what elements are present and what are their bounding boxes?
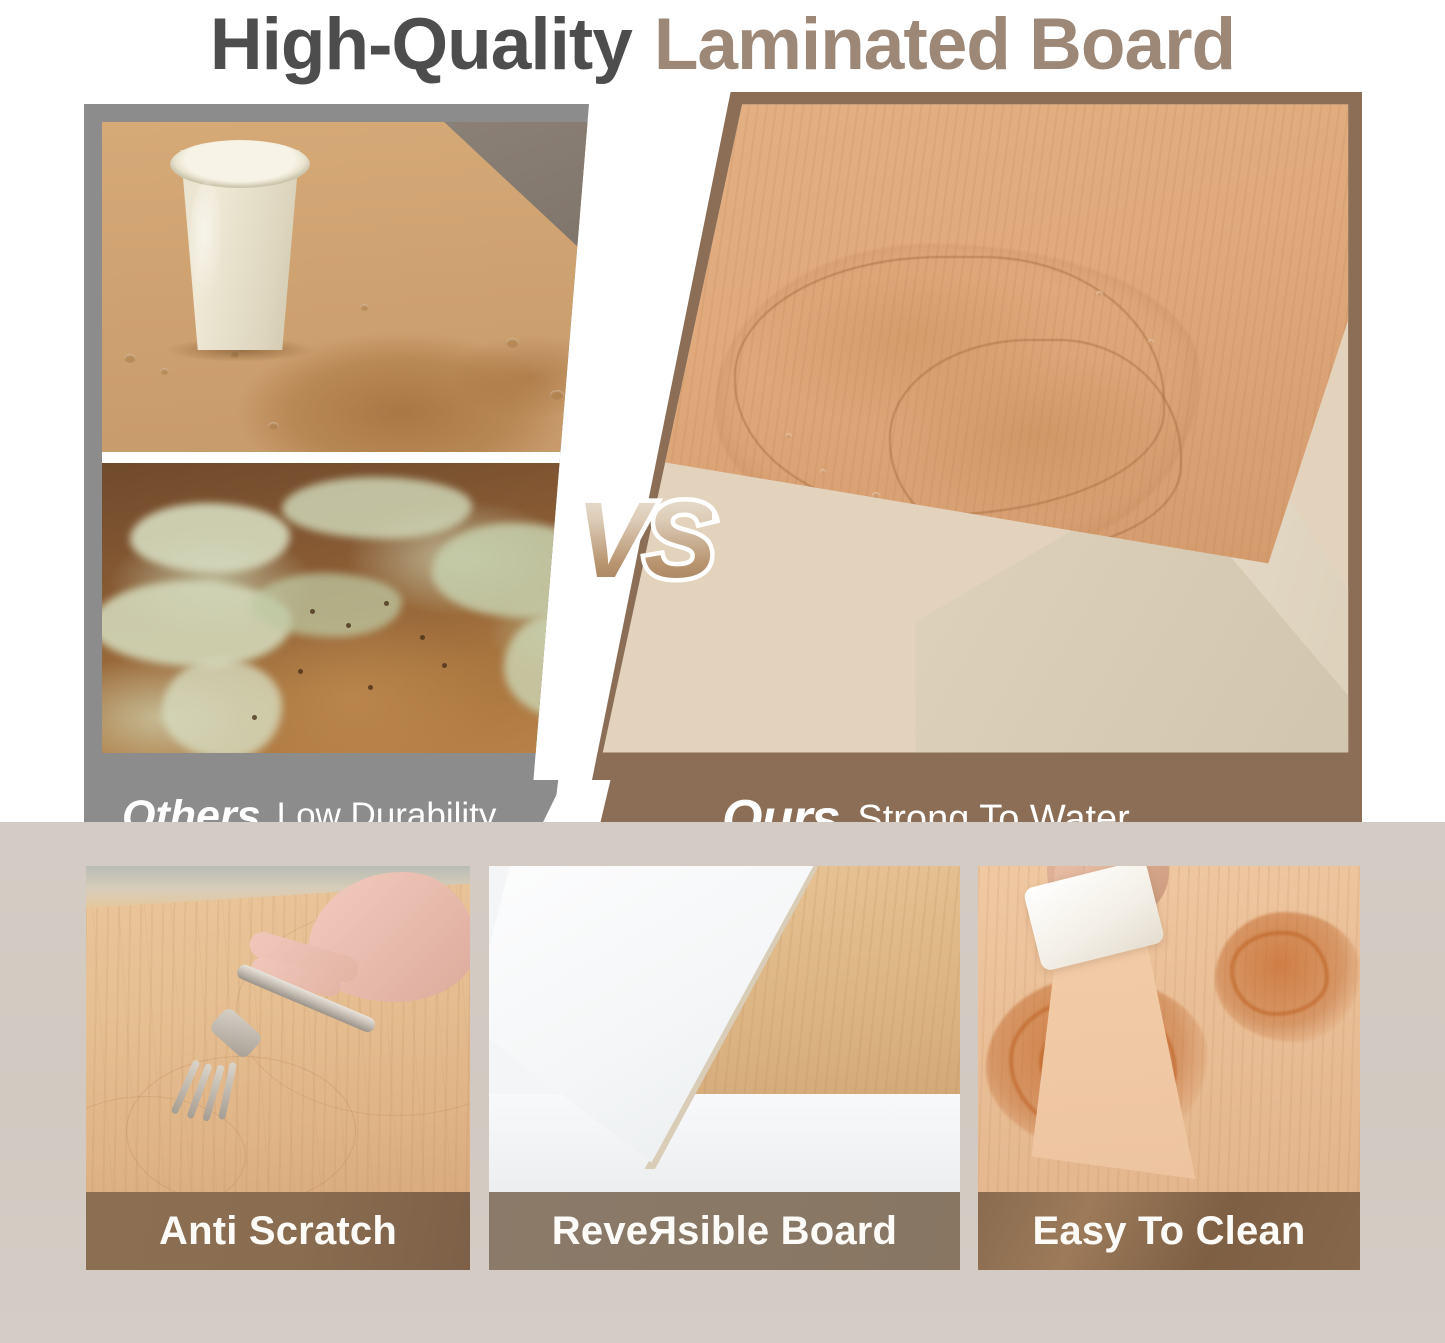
cup-highlight <box>190 182 224 302</box>
mold-speck <box>384 601 389 606</box>
feature-label-reversible: ReveЯsible Board <box>489 1192 960 1270</box>
comparison-section: Others Low Durability Ours Strong To Wat… <box>0 88 1445 798</box>
feature-card-reversible: ReveЯsible Board <box>489 866 960 1270</box>
liquid-droplet <box>268 422 279 430</box>
spilled-drink-photo <box>102 122 589 452</box>
mold-speck <box>310 609 315 614</box>
photo-divider <box>102 452 589 463</box>
mold-patch <box>130 503 290 573</box>
liquid-droplet <box>160 368 169 375</box>
liquid-droplet <box>360 304 369 311</box>
ours-panel <box>592 92 1362 780</box>
feature-label-easy-clean: Easy To Clean <box>978 1192 1360 1270</box>
feature-card-easy-clean: Easy To Clean <box>978 866 1360 1270</box>
page-title-part-one: High-Quality <box>210 8 632 81</box>
white-surface-below <box>489 1094 960 1192</box>
others-photo-stack <box>102 122 589 780</box>
feature-label-anti-scratch: Anti Scratch <box>86 1192 470 1270</box>
mold-speck <box>298 669 303 674</box>
page-title: High-Quality Laminated Board <box>0 0 1445 88</box>
water-beading-photo <box>592 92 1362 780</box>
mold-growth-photo <box>102 463 589 753</box>
page-title-part-two: Laminated Board <box>654 8 1235 81</box>
mold-speck <box>346 623 351 628</box>
vs-badge-fill: VS <box>576 479 712 600</box>
others-panel <box>84 104 589 780</box>
mold-speck <box>420 635 425 640</box>
features-section: Anti Scratch ReveЯsible Board Eas <box>0 822 1445 1343</box>
water-droplet <box>820 469 826 474</box>
mold-patch <box>162 659 282 753</box>
liquid-droplet <box>506 338 519 348</box>
liquid-droplet <box>550 390 564 400</box>
water-droplet <box>1148 339 1154 344</box>
sauce-swirl <box>1230 931 1329 1016</box>
liquid-droplet <box>124 354 136 363</box>
background-wall-corner <box>364 122 589 290</box>
wipe-sauce-photo <box>978 866 1360 1192</box>
vs-badge: VS VS <box>576 486 712 594</box>
paper-cup-rim <box>170 140 310 188</box>
mold-patch <box>282 477 472 539</box>
fork-scratch-photo <box>86 866 470 1192</box>
mold-patch <box>252 573 402 637</box>
reversible-board-photo <box>489 866 960 1192</box>
mold-speck <box>252 715 257 720</box>
feature-card-anti-scratch: Anti Scratch <box>86 866 470 1270</box>
mold-patch <box>432 523 589 618</box>
mold-speck <box>442 663 447 668</box>
water-puddle-outline <box>889 339 1182 552</box>
mold-speck <box>368 685 373 690</box>
